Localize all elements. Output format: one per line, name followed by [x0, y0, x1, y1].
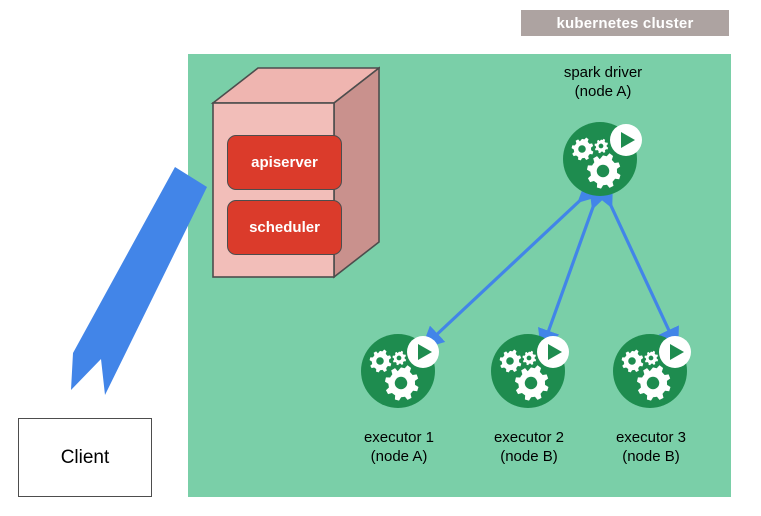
spark-driver-name: spark driver: [538, 63, 668, 82]
executor-3-node: (node B): [590, 447, 712, 466]
executor-1-play-icon: [407, 336, 439, 368]
kubernetes-cluster-tag: kubernetes cluster: [521, 10, 729, 36]
apiserver-component[interactable]: apiserver: [227, 135, 342, 190]
executor-2-node: (node B): [468, 447, 590, 466]
diagram-canvas: kubernetes cluster apiserver scheduler s…: [0, 0, 761, 516]
spark-driver-caption: spark driver (node A): [538, 63, 668, 101]
executor-3-caption: executor 3 (node B): [590, 428, 712, 466]
scheduler-component[interactable]: scheduler: [227, 200, 342, 255]
kubernetes-cluster-tag-label: kubernetes cluster: [557, 15, 694, 32]
executor-3-name: executor 3: [590, 428, 712, 447]
driver-play-icon: [610, 124, 642, 156]
executor-1-name: executor 1: [338, 428, 460, 447]
executor-2-node-icon[interactable]: [488, 330, 570, 410]
executor-3-node-icon[interactable]: [610, 330, 692, 410]
control-plane-components: apiserver scheduler: [227, 135, 342, 265]
executor-2-caption: executor 2 (node B): [468, 428, 590, 466]
spark-driver-node-icon[interactable]: [556, 118, 648, 198]
executor-2-name: executor 2: [468, 428, 590, 447]
client-box[interactable]: Client: [18, 418, 152, 497]
spark-submit-arrow: spark-submit: [55, 165, 210, 415]
executor-1-caption: executor 1 (node A): [338, 428, 460, 466]
control-plane-cube: apiserver scheduler: [205, 66, 380, 281]
executor-1-node: (node A): [338, 447, 460, 466]
apiserver-label: apiserver: [251, 154, 318, 171]
client-label: Client: [61, 447, 110, 469]
scheduler-label: scheduler: [249, 219, 320, 236]
executor-1-node-icon[interactable]: [358, 330, 440, 410]
spark-driver-node: (node A): [538, 82, 668, 101]
executor-2-play-icon: [537, 336, 569, 368]
executor-3-play-icon: [659, 336, 691, 368]
